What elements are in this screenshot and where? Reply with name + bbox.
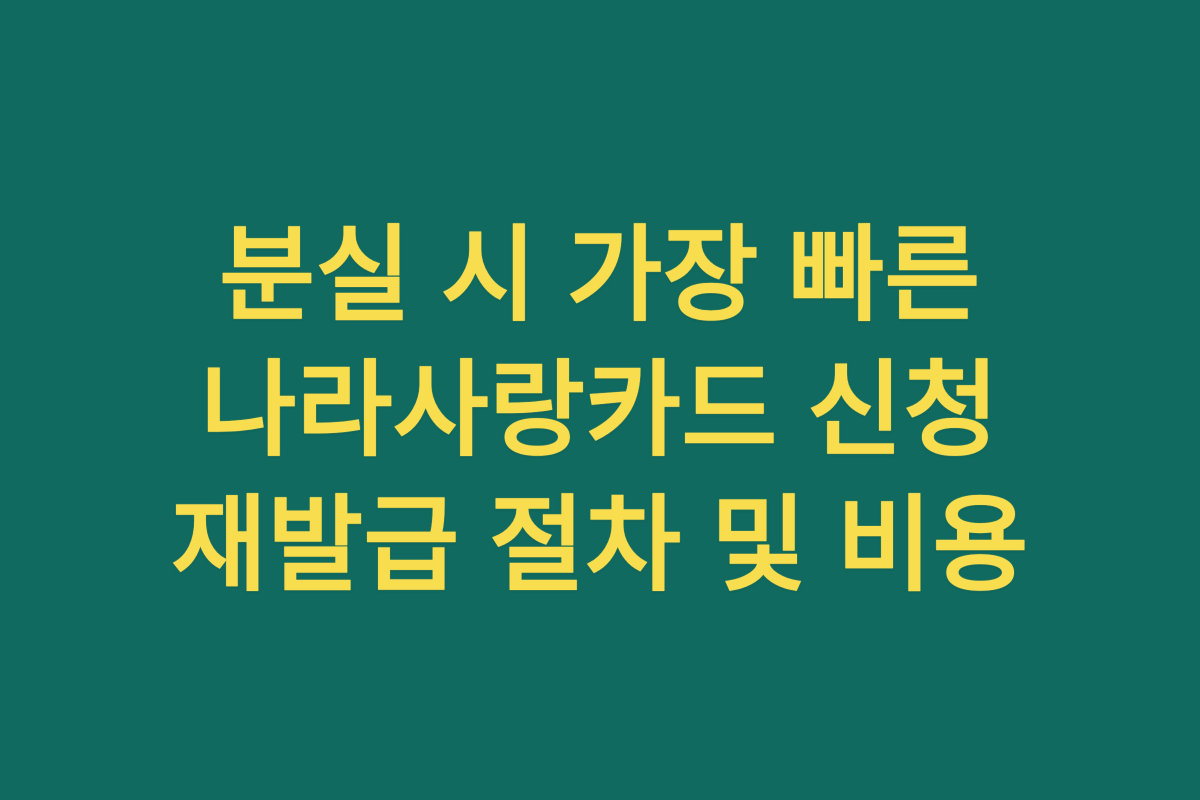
thumbnail-card: 분실 시 가장 빠른 나라사랑카드 신청 재발급 절차 및 비용: [0, 0, 1200, 800]
headline-block: 분실 시 가장 빠른 나라사랑카드 신청 재발급 절차 및 비용: [80, 209, 1120, 614]
page-title: 분실 시 가장 빠른 나라사랑카드 신청 재발급 절차 및 비용: [80, 209, 1120, 614]
